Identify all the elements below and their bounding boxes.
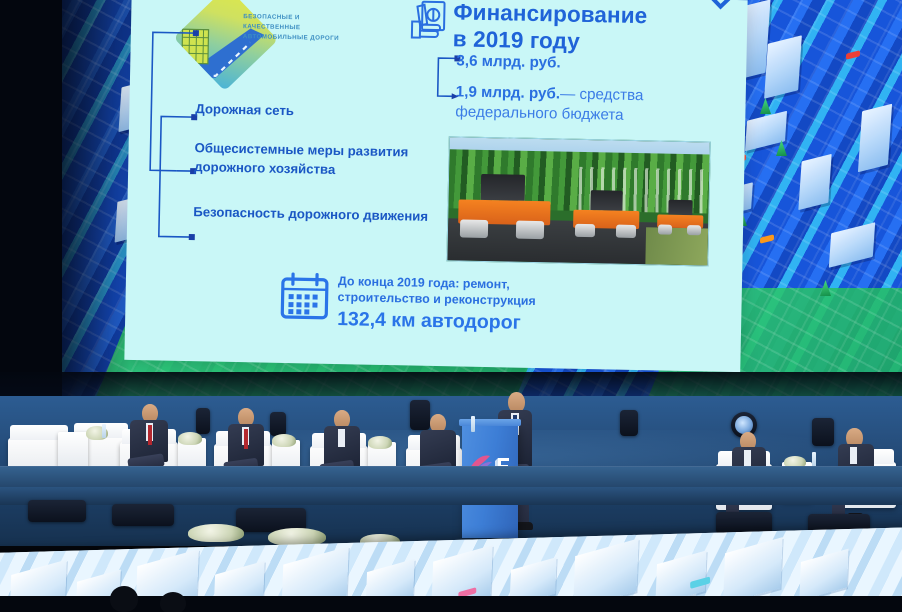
financing-heading-line2: в 2019 году <box>453 25 647 56</box>
calendar-highlight: 132,4 км автодорог <box>337 307 657 338</box>
financing-federal-amount: 1,9 млрд. руб.— средства федерального бю… <box>455 82 718 127</box>
list-item: Дорожная сеть <box>195 99 445 123</box>
spotlight <box>620 410 638 436</box>
water-bottle <box>471 416 475 432</box>
calendar-text-block: До конца 2019 года: ремонт, строительств… <box>337 273 658 338</box>
road-roller <box>656 199 707 238</box>
financing-federal-dash: — средства <box>560 85 644 104</box>
calendar-icon <box>279 271 330 322</box>
led-building <box>799 549 848 601</box>
flower-arrangement <box>188 524 244 542</box>
financing-heading-line1: Финансирование <box>453 0 647 29</box>
led-building <box>723 537 783 604</box>
led-building <box>798 154 831 210</box>
led-building <box>858 104 892 173</box>
chevron-down-icon <box>707 0 734 20</box>
presentation-slide: БЕЗОПАСНЫЕ И КАЧЕСТВЕННЫЕ АВТОМОБИЛЬНЫЕ … <box>124 0 747 372</box>
stage-riser-lower <box>0 487 902 505</box>
flower-arrangement <box>272 434 296 447</box>
list-item: Общесистемные меры развития дорожного хо… <box>194 138 445 181</box>
road-roller <box>456 173 553 241</box>
led-building <box>764 35 802 98</box>
list-item: Безопасность дорожного движения <box>193 202 443 226</box>
stage-monitor <box>28 500 86 522</box>
side-table <box>58 432 88 468</box>
stage-riser-upper <box>0 466 902 488</box>
slide-bullet-list: Дорожная сеть Общесистемные меры развити… <box>193 99 446 246</box>
audience-silhouette <box>110 586 138 612</box>
audience-silhouette <box>160 592 186 612</box>
spotlight <box>196 408 210 434</box>
podium-top-surface <box>459 419 521 426</box>
financing-federal-rest: федерального бюджета <box>455 102 717 127</box>
water-bottle <box>102 424 106 438</box>
stage-monitor <box>112 504 174 526</box>
financing-federal-value: 1,9 млрд. руб. <box>456 83 561 102</box>
financing-heading: Финансирование в 2019 году <box>453 0 648 56</box>
flower-arrangement <box>178 432 202 445</box>
conference-hall-photo: БЕЗОПАСНЫЕ И КАЧЕСТВЕННЫЕ АВТОМОБИЛЬНЫЕ … <box>0 0 902 612</box>
offscreen-dark-area <box>0 0 62 400</box>
road-roller <box>572 190 643 241</box>
bkad-logo-text: БЕЗОПАСНЫЕ И КАЧЕСТВЕННЫЕ АВТОМОБИЛЬНЫЕ … <box>243 12 354 44</box>
road-construction-photo <box>446 136 710 266</box>
money-hand-icon <box>409 0 452 44</box>
flower-arrangement <box>368 436 392 449</box>
financing-total-amount: 3,6 млрд. руб. <box>456 52 561 71</box>
